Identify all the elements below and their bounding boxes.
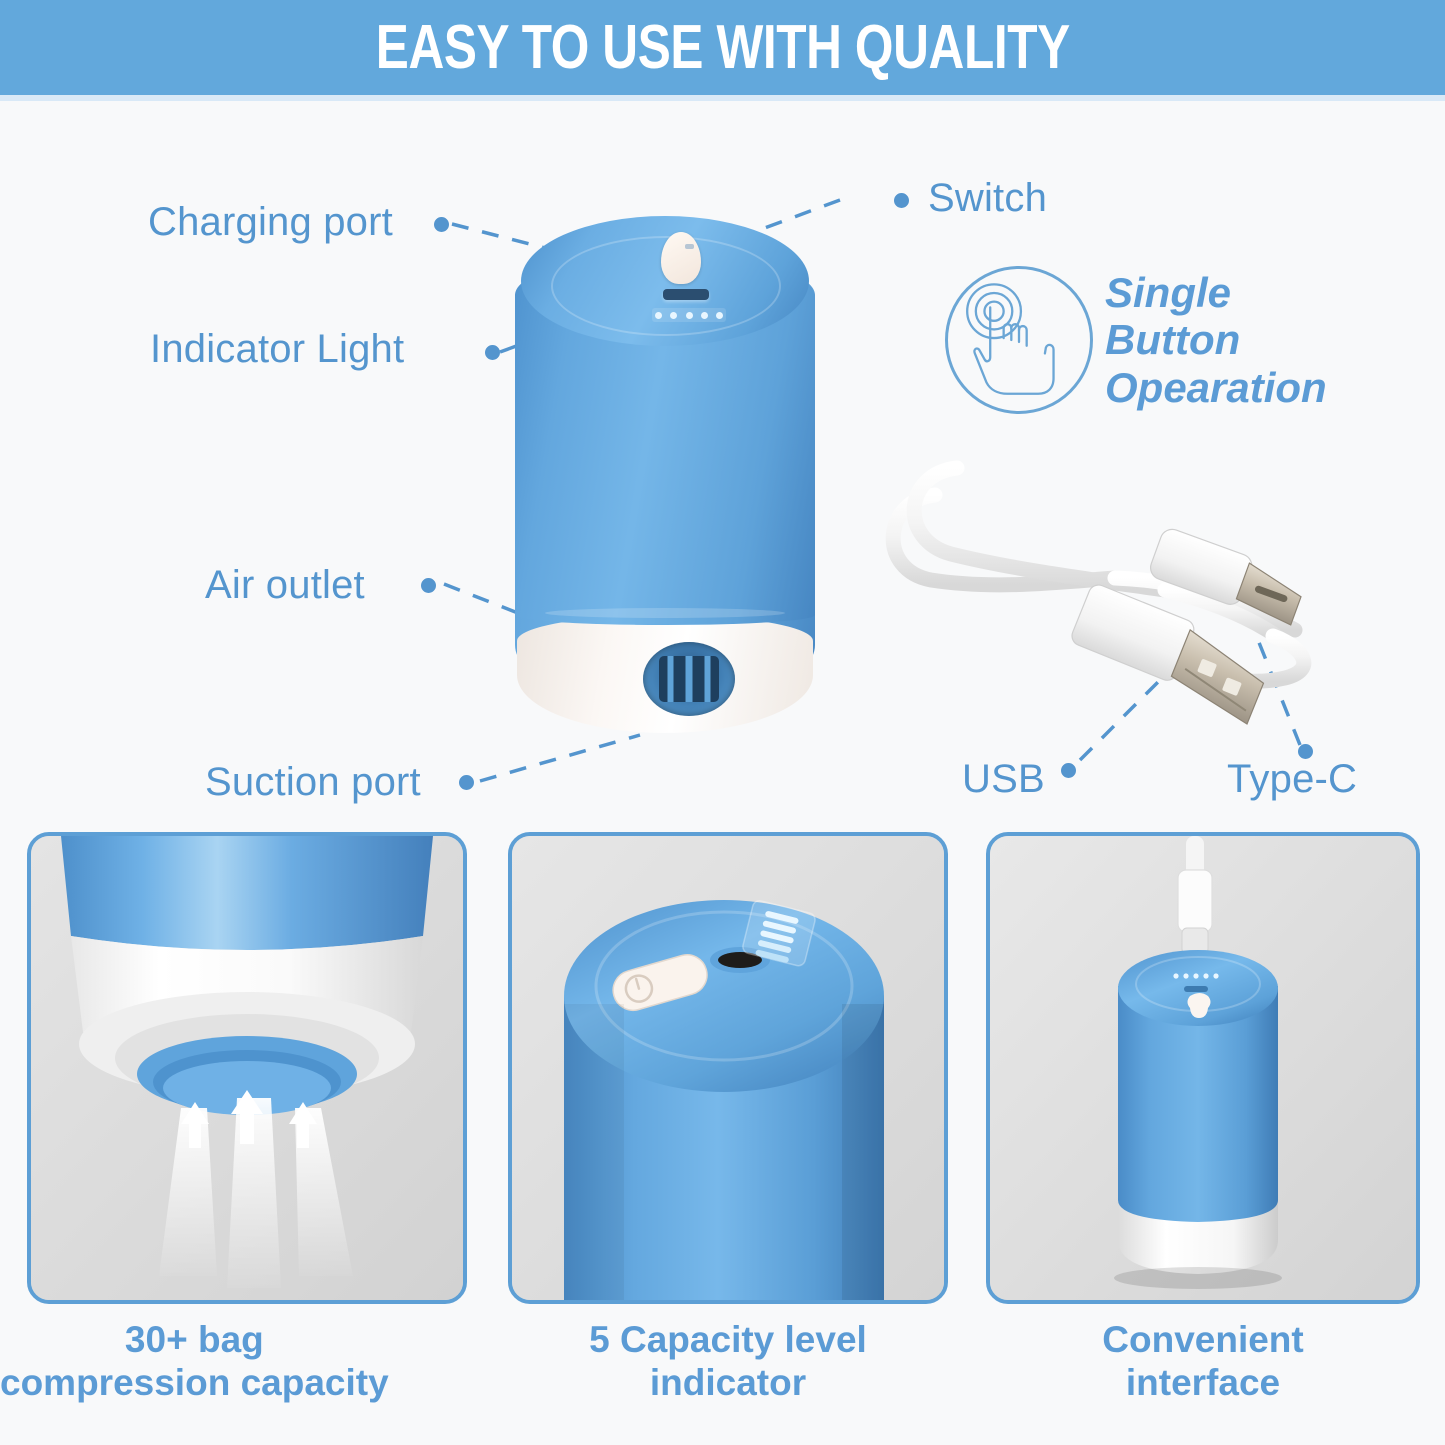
air-outlet-port	[643, 642, 735, 716]
callout-charging-port: Charging port	[148, 200, 393, 245]
indicator-light-array	[652, 308, 726, 322]
device-lid	[521, 216, 809, 346]
callout-air-outlet: Air outlet	[205, 563, 365, 608]
feature-panel-convenient-interface	[986, 832, 1420, 1304]
header-banner: EASY TO USE WITH QUALITY	[0, 0, 1445, 95]
panel-caption-convenient-interface: Convenient interface	[986, 1318, 1420, 1405]
caption-line-1: Convenient	[986, 1318, 1420, 1361]
callout-dot-indicator-light	[485, 345, 500, 360]
led-indicator	[701, 312, 708, 319]
callout-type-c: Type-C	[1227, 757, 1357, 802]
callout-dot-type-c	[1298, 744, 1313, 759]
page-title: EASY TO USE WITH QUALITY	[375, 12, 1069, 83]
hero-device-image	[515, 210, 815, 740]
callout-dot-usb	[1061, 763, 1076, 778]
caption-line-2: interface	[986, 1361, 1420, 1404]
badge-text: Single Button Opearation	[1105, 269, 1365, 410]
caption-line-2: indicator	[508, 1361, 948, 1404]
feature-panel-compression	[27, 832, 467, 1304]
charging-port-slot	[663, 289, 709, 300]
callout-indicator-light: Indicator Light	[150, 327, 404, 372]
suction-port-airflow-closeup	[31, 836, 463, 1300]
led-indicator	[670, 312, 677, 319]
usb-cable-image	[865, 430, 1365, 730]
panel-caption-compression: 30+ bag compression capacity	[0, 1318, 389, 1405]
led-indicator	[655, 312, 662, 319]
single-button-operation-badge: Single Button Opearation	[945, 265, 1365, 415]
power-switch-button[interactable]	[661, 232, 701, 284]
banner-underline	[0, 95, 1445, 101]
tap-gesture-icon	[945, 266, 1093, 414]
feature-panel-capacity-indicator	[508, 832, 948, 1304]
callout-dot-switch	[894, 193, 909, 208]
badge-line-2: Opearation	[1105, 364, 1365, 411]
device-seam-line	[545, 608, 785, 618]
panel-caption-capacity-indicator: 5 Capacity level indicator	[508, 1318, 948, 1405]
callout-dot-air-outlet	[421, 578, 436, 593]
callout-switch: Switch	[928, 176, 1047, 221]
callout-dot-charging-port	[434, 217, 449, 232]
caption-line-1: 5 Capacity level	[508, 1318, 948, 1361]
badge-line-1: Single Button	[1105, 269, 1365, 363]
led-indicator	[686, 312, 693, 319]
callout-suction-port: Suction port	[205, 760, 421, 805]
callout-dot-suction-port	[459, 775, 474, 790]
caption-line-1: 30+ bag	[0, 1318, 389, 1361]
top-button-and-led-closeup	[512, 836, 944, 1300]
device-with-typec-cable-connected	[990, 836, 1416, 1300]
infographic-root: EASY TO USE WITH QUALITY Charging port I…	[0, 0, 1445, 1445]
callout-usb: USB	[962, 757, 1045, 802]
led-indicator	[716, 312, 723, 319]
caption-line-2: compression capacity	[0, 1361, 389, 1404]
